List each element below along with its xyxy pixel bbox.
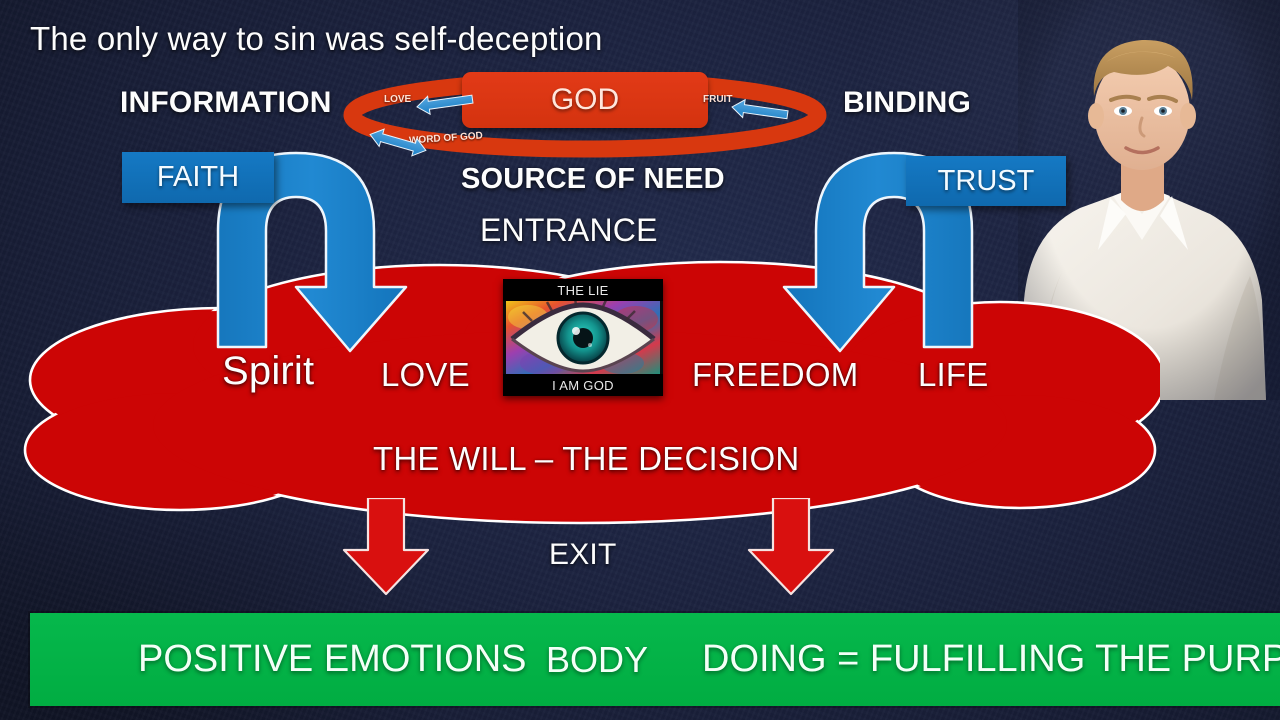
cloud-word-life: LIFE: [918, 356, 989, 394]
trust-box[interactable]: TRUST: [906, 156, 1066, 206]
i-am-god-caption: I AM GOD: [503, 374, 663, 396]
the-lie-caption: THE LIE: [503, 279, 663, 301]
green-item-positive-emotions: POSITIVE EMOTIONS: [138, 638, 527, 681]
green-outcome-bar: POSITIVE EMOTIONS BODY DOING = FULFILLIN…: [30, 613, 1280, 706]
green-item-body: BODY: [546, 639, 648, 681]
the-lie-card: THE LIE: [503, 279, 663, 396]
eye-icon: [506, 301, 660, 374]
slide-canvas: The only way to sin was self-deception G…: [0, 0, 1280, 720]
cloud-word-freedom: FREEDOM: [692, 356, 858, 394]
exit-arrow-right: [745, 498, 837, 596]
cloud-caption-the-will-the-decision: THE WILL – THE DECISION: [373, 440, 799, 478]
faith-box[interactable]: FAITH: [122, 152, 274, 203]
faith-label: FAITH: [157, 161, 239, 194]
heading-binding: BINDING: [843, 86, 971, 120]
heading-entrance: ENTRANCE: [480, 212, 658, 249]
green-item-doing: DOING = FULFILLING THE PURPOSE: [702, 638, 1280, 681]
heading-source-of-need: SOURCE OF NEED: [461, 163, 725, 196]
fruit-arrow: [731, 98, 789, 124]
exit-arrow-left: [340, 498, 432, 596]
love-arrow: [416, 90, 474, 116]
heading-information: INFORMATION: [120, 86, 332, 120]
page-title: The only way to sin was self-deception: [30, 20, 603, 58]
cloud-word-love: LOVE: [381, 356, 470, 394]
label-exit: EXIT: [549, 538, 616, 572]
trust-label: TRUST: [938, 165, 1035, 198]
cloud-word-spirit: Spirit: [222, 349, 314, 394]
